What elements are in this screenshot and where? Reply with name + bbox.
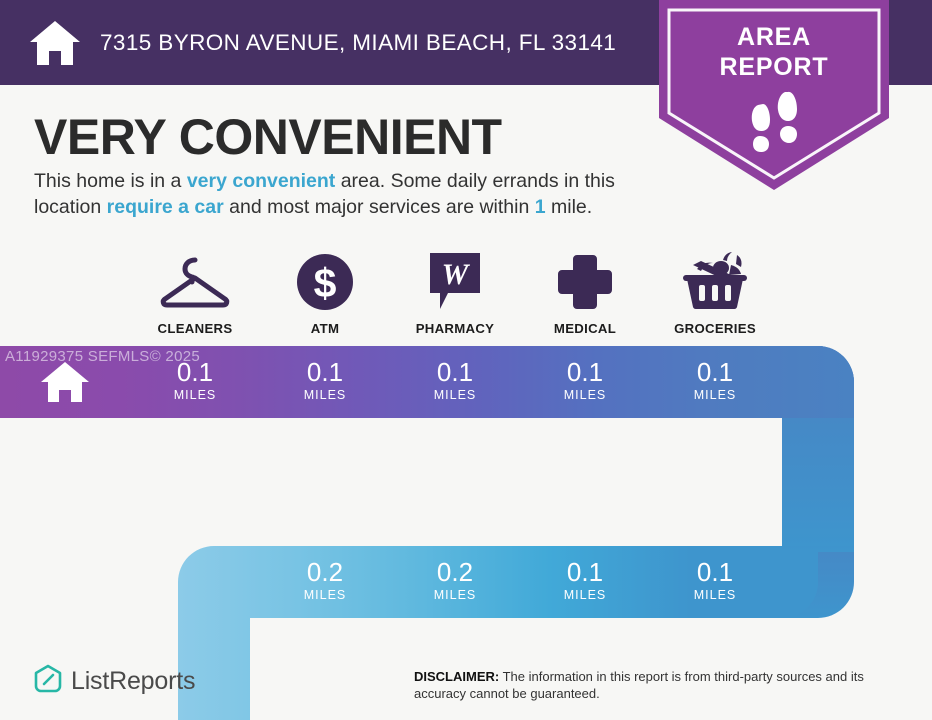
hanger-icon — [157, 250, 233, 314]
distance-pharmacy: 0.1 MILES — [390, 346, 520, 418]
distance-unit: MILES — [650, 588, 780, 602]
home-icon — [28, 18, 82, 68]
distance-coffee: 0.1 MILES — [650, 546, 780, 618]
listreports-house-icon — [34, 664, 62, 699]
amenity-label: CLEANERS — [158, 321, 233, 336]
summary-highlight-3: 1 — [535, 196, 546, 218]
amenity-label: GROCERIES — [674, 321, 756, 336]
distance-atm: 0.1 MILES — [260, 346, 390, 418]
disclaimer-label: DISCLAIMER: — [414, 669, 499, 684]
property-address: 7315 BYRON AVENUE, MIAMI BEACH, FL 33141 — [100, 30, 616, 56]
distance-value: 0.2 — [390, 558, 520, 586]
distance-unit: MILES — [260, 388, 390, 402]
svg-text:$: $ — [314, 260, 337, 306]
distance-unit: MILES — [650, 388, 780, 402]
mls-watermark: A11929375 SEFMLS© 2025 — [5, 348, 200, 365]
row1-lead-spacer — [0, 244, 130, 336]
distance-value: 0.1 — [390, 358, 520, 386]
distance-value: 0.1 — [260, 358, 390, 386]
svg-text:W: W — [442, 258, 471, 291]
distance-movie-theater: 0.2 MILES — [260, 546, 390, 618]
distance-value: 0.1 — [650, 558, 780, 586]
amenity-medical: MEDICAL — [520, 244, 650, 336]
distance-value: 0.1 — [520, 558, 650, 586]
distance-unit: MILES — [390, 388, 520, 402]
distance-gas: 0.2 MILES — [390, 546, 520, 618]
amenity-label: MEDICAL — [554, 321, 616, 336]
grocery-basket-icon — [679, 250, 751, 314]
disclaimer: DISCLAIMER: The information in this repo… — [414, 668, 884, 702]
distance-gym: 0.1 MILES — [520, 546, 650, 618]
distance-unit: MILES — [520, 588, 650, 602]
summary-part-1: This home is in a — [34, 170, 187, 192]
distance-groceries: 0.1 MILES — [650, 346, 780, 418]
summary-part-4: mile. — [546, 196, 593, 218]
amenity-atm: $ ATM — [260, 244, 390, 336]
summary-part-3: and most major services are within — [224, 196, 535, 218]
summary-text: This home is in a very convenient area. … — [34, 168, 664, 220]
amenity-label: ATM — [311, 321, 340, 336]
dollar-coin-icon: $ — [295, 250, 355, 314]
summary-highlight-2: require a car — [107, 196, 224, 218]
page-title: VERY CONVENIENT — [34, 108, 502, 166]
medical-cross-icon — [556, 250, 614, 314]
distance-value: 0.1 — [520, 358, 650, 386]
amenity-label: PHARMACY — [416, 321, 495, 336]
walgreens-w-icon: W — [426, 250, 484, 314]
listreports-logo: ListReports — [34, 664, 195, 699]
distance-row-2: 0.2 MILES 0.2 MILES 0.1 MILES 0.1 MILES — [0, 546, 932, 618]
listreports-brand-name: ListReports — [71, 667, 195, 696]
distance-unit: MILES — [520, 388, 650, 402]
amenity-pharmacy: W PHARMACY — [390, 244, 520, 336]
distance-unit: MILES — [390, 588, 520, 602]
distance-value: 0.1 — [650, 358, 780, 386]
amenity-groceries: GROCERIES — [650, 244, 780, 336]
area-report-badge: AREA REPORT — [659, 0, 889, 190]
amenity-icon-row-1: CLEANERS $ ATM W PHARMACY MEDICAL — [0, 244, 932, 336]
distance-medical: 0.1 MILES — [520, 346, 650, 418]
distance-unit: MILES — [130, 388, 260, 402]
amenity-cleaners: CLEANERS — [130, 244, 260, 336]
summary-highlight-1: very convenient — [187, 170, 335, 192]
distance-unit: MILES — [260, 588, 390, 602]
distance-value: 0.2 — [260, 558, 390, 586]
row2-bar-lead — [0, 546, 260, 618]
